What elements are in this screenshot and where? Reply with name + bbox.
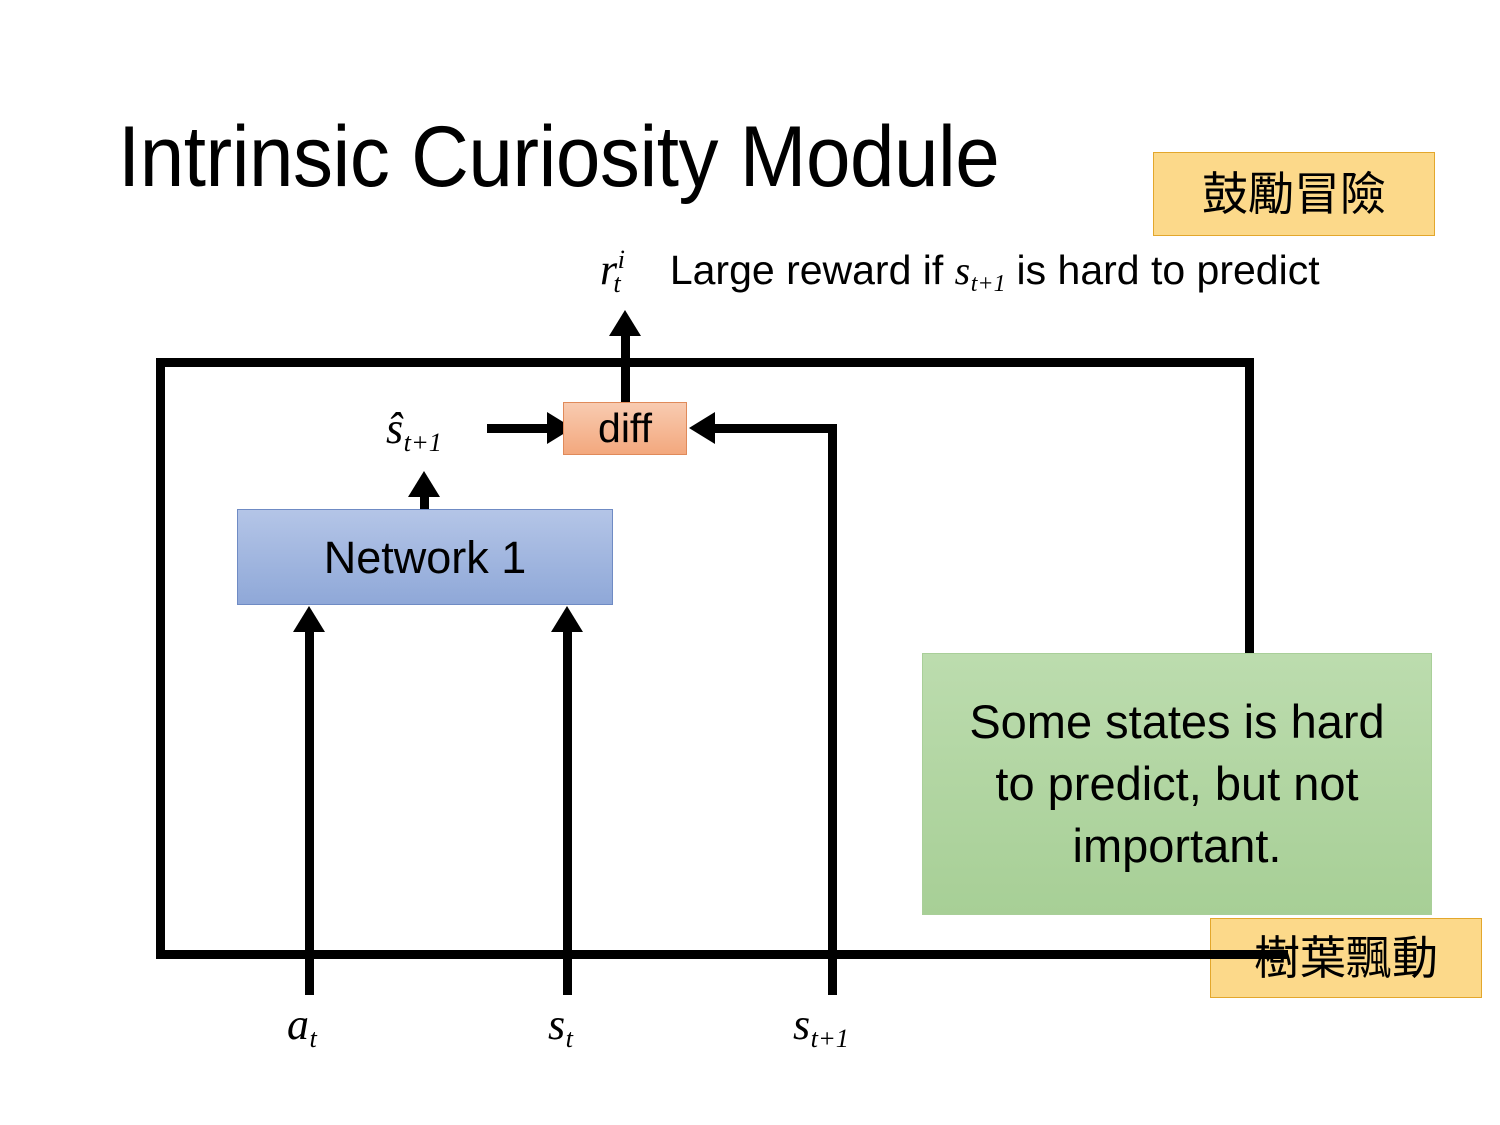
label-action-subscript: t: [310, 1023, 317, 1053]
reward-symbol-subscript: t: [613, 268, 620, 298]
wire-state-next-trunk: [828, 424, 837, 995]
reward-symbol: rit: [600, 248, 632, 292]
note-line-1: Some states is hard: [969, 691, 1384, 753]
label-state-t: st: [548, 1000, 572, 1050]
reward-caption-state-base: s: [955, 248, 971, 293]
label-state-next-base: s: [793, 1000, 810, 1049]
reward-caption-row: rit Large reward if st+1 is hard to pred…: [600, 248, 1320, 292]
label-state-subscript: t: [566, 1023, 573, 1053]
note-line-2: to predict, but not: [995, 753, 1358, 815]
note-block-hard-to-predict: Some states is hard to predict, but not …: [922, 653, 1432, 915]
wire-shat-to-diff: [487, 424, 551, 433]
frame-right-edge: [1245, 358, 1254, 658]
label-state-next-subscript: t+1: [811, 1023, 849, 1053]
wire-state-trunk: [563, 630, 572, 995]
wire-state-next-to-diff: [715, 424, 837, 433]
wire-reward-output: [621, 330, 630, 404]
wire-action-trunk: [305, 630, 314, 995]
network1-block[interactable]: Network 1: [237, 509, 613, 605]
label-action-t: at: [287, 1000, 316, 1050]
page-title: Intrinsic Curiosity Module: [118, 114, 999, 200]
frame-bottom-edge: [156, 950, 1288, 959]
label-action-base: a: [287, 1000, 309, 1049]
reward-caption-state: st+1: [955, 251, 1005, 291]
label-state-t-plus-1: st+1: [793, 1000, 848, 1050]
frame-left-edge: [156, 358, 165, 959]
label-s-hat-next: ŝt+1: [386, 404, 441, 454]
arrowhead-network1-to-shat: [408, 471, 440, 497]
reward-caption-prefix: Large reward if: [670, 247, 955, 293]
arrowhead-state-next-to-diff: [689, 412, 715, 444]
reward-caption-text: Large reward if st+1 is hard to predict: [670, 250, 1320, 291]
frame-top-edge: [156, 358, 1254, 367]
diff-block[interactable]: diff: [563, 402, 687, 455]
arrowhead-state-to-network1: [551, 606, 583, 632]
arrowhead-action-to-network1: [293, 606, 325, 632]
badge-encourage-adventure: 鼓勵冒險: [1153, 152, 1435, 236]
label-s-hat-subscript: t+1: [404, 427, 442, 457]
arrowhead-reward-output: [609, 310, 641, 336]
slide-canvas: Intrinsic Curiosity Module 鼓勵冒險 樹葉飄動 rit…: [0, 0, 1500, 1125]
note-line-3: important.: [1073, 815, 1282, 877]
reward-caption-suffix: is hard to predict: [1005, 247, 1320, 293]
label-state-base: s: [548, 1000, 565, 1049]
reward-caption-state-subscript: t+1: [971, 271, 1006, 297]
label-s-hat-base: ŝ: [386, 404, 403, 453]
